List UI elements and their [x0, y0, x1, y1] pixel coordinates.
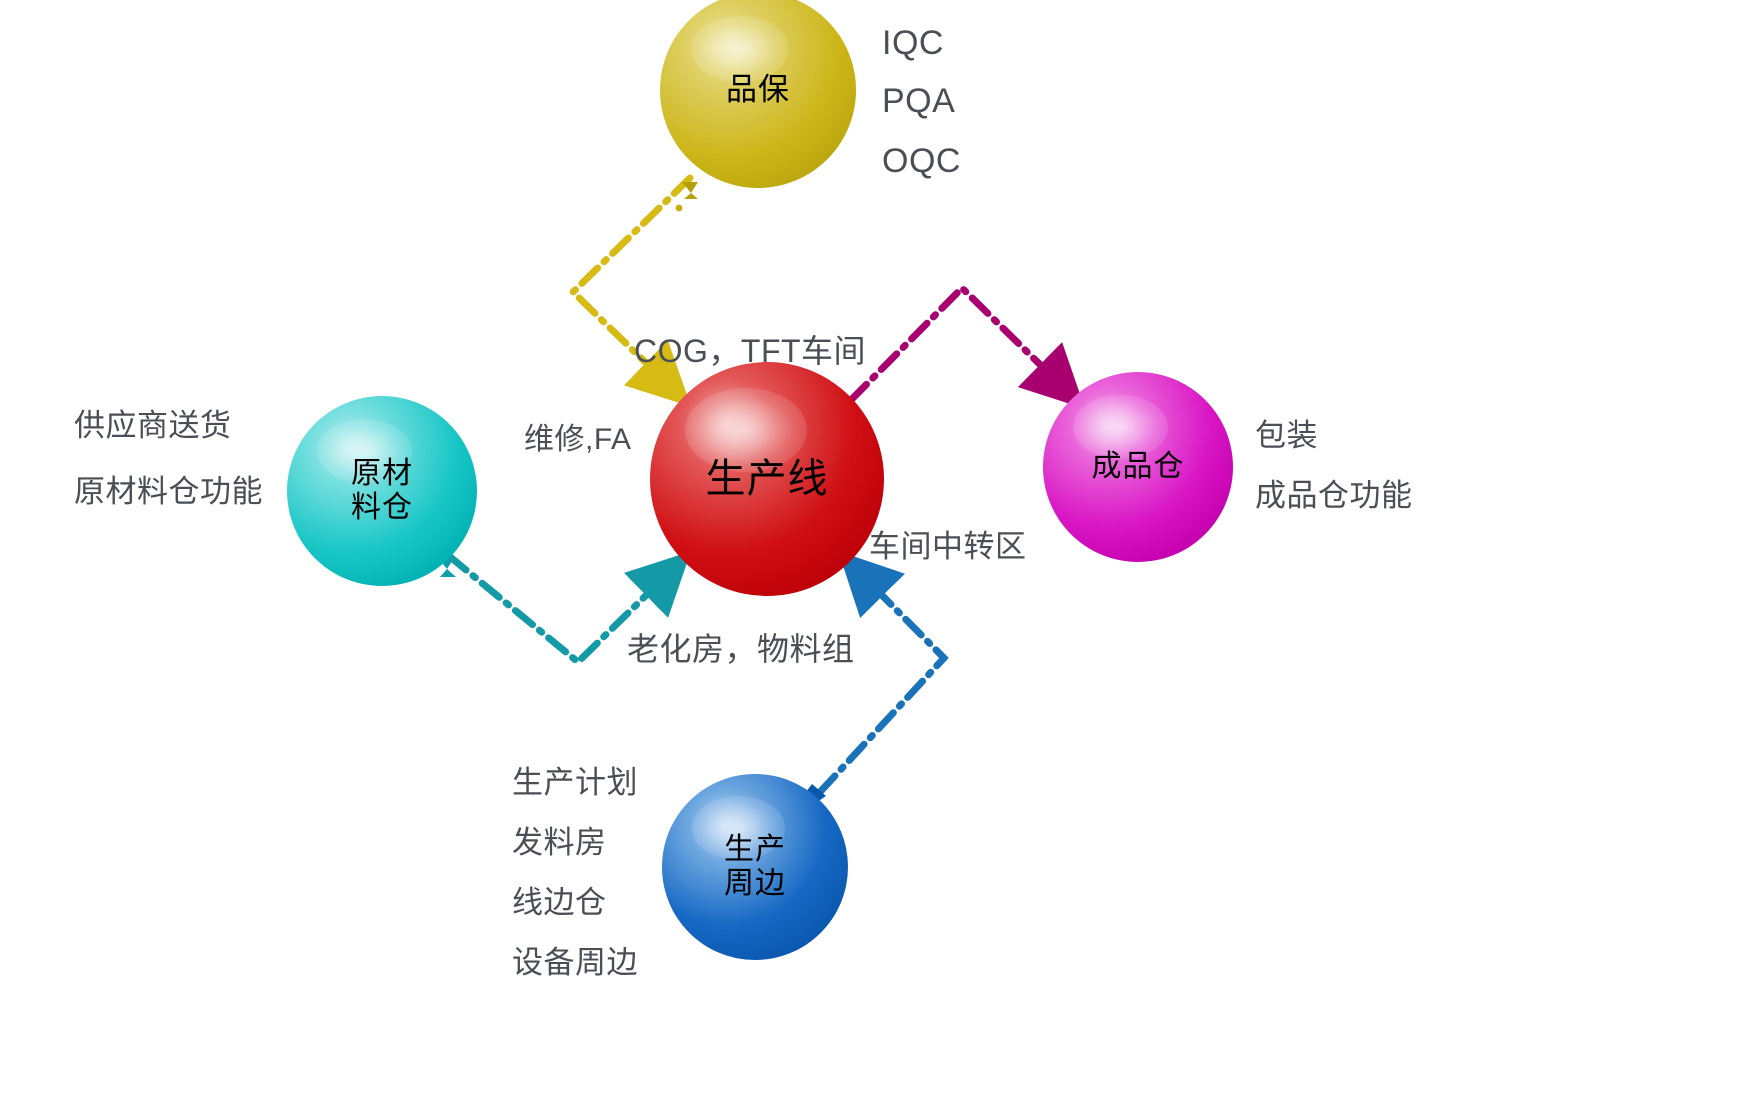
node-label-raw-material-warehouse: 原材 料仓 — [351, 457, 413, 524]
note-issue-room: 发料房 — [512, 817, 607, 862]
edge-label-repair-fa: 维修,FA — [524, 414, 632, 458]
node-label-production-peripherals: 生产 周边 — [724, 833, 786, 900]
balloon-knot-qa — [672, 182, 712, 216]
note-supplier-delivery: 供应商送货 — [74, 400, 232, 445]
edge-line-to-fin — [851, 288, 1070, 400]
diagram-canvas: 品保 原材 料仓 生产线 成品仓 生产 周边 IQC PQA OQC 供应商送货… — [0, 0, 1739, 1094]
note-line-side-warehouse: 线边仓 — [512, 877, 607, 922]
edge-peri-to-line — [820, 566, 944, 792]
node-label-quality-assurance: 品保 — [726, 73, 790, 108]
note-pqa: PQA — [882, 82, 955, 121]
node-quality-assurance[interactable]: 品保 — [660, 0, 856, 188]
node-production-peripherals[interactable]: 生产 周边 — [662, 774, 848, 960]
note-raw-warehouse-function: 原材料仓功能 — [74, 466, 263, 511]
node-finished-goods-warehouse[interactable]: 成品仓 — [1043, 372, 1233, 562]
edge-label-aging-room-material-group: 老化房，物料组 — [627, 624, 855, 670]
note-equipment-peripherals: 设备周边 — [512, 937, 638, 982]
node-label-production-line: 生产线 — [706, 457, 829, 502]
note-oqc: OQC — [882, 142, 961, 181]
note-iqc: IQC — [882, 24, 944, 63]
note-production-plan: 生产计划 — [512, 757, 638, 802]
node-label-finished-goods-warehouse: 成品仓 — [1092, 450, 1185, 484]
node-raw-material-warehouse[interactable]: 原材 料仓 — [287, 396, 477, 586]
edge-label-cog-tft-workshop: COG，TFT车间 — [634, 326, 866, 372]
note-finished-warehouse-function: 成品仓功能 — [1255, 470, 1413, 515]
note-packaging: 包装 — [1255, 410, 1318, 455]
node-production-line[interactable]: 生产线 — [650, 362, 884, 596]
edge-label-workshop-transfer-area: 车间中转区 — [869, 521, 1027, 566]
